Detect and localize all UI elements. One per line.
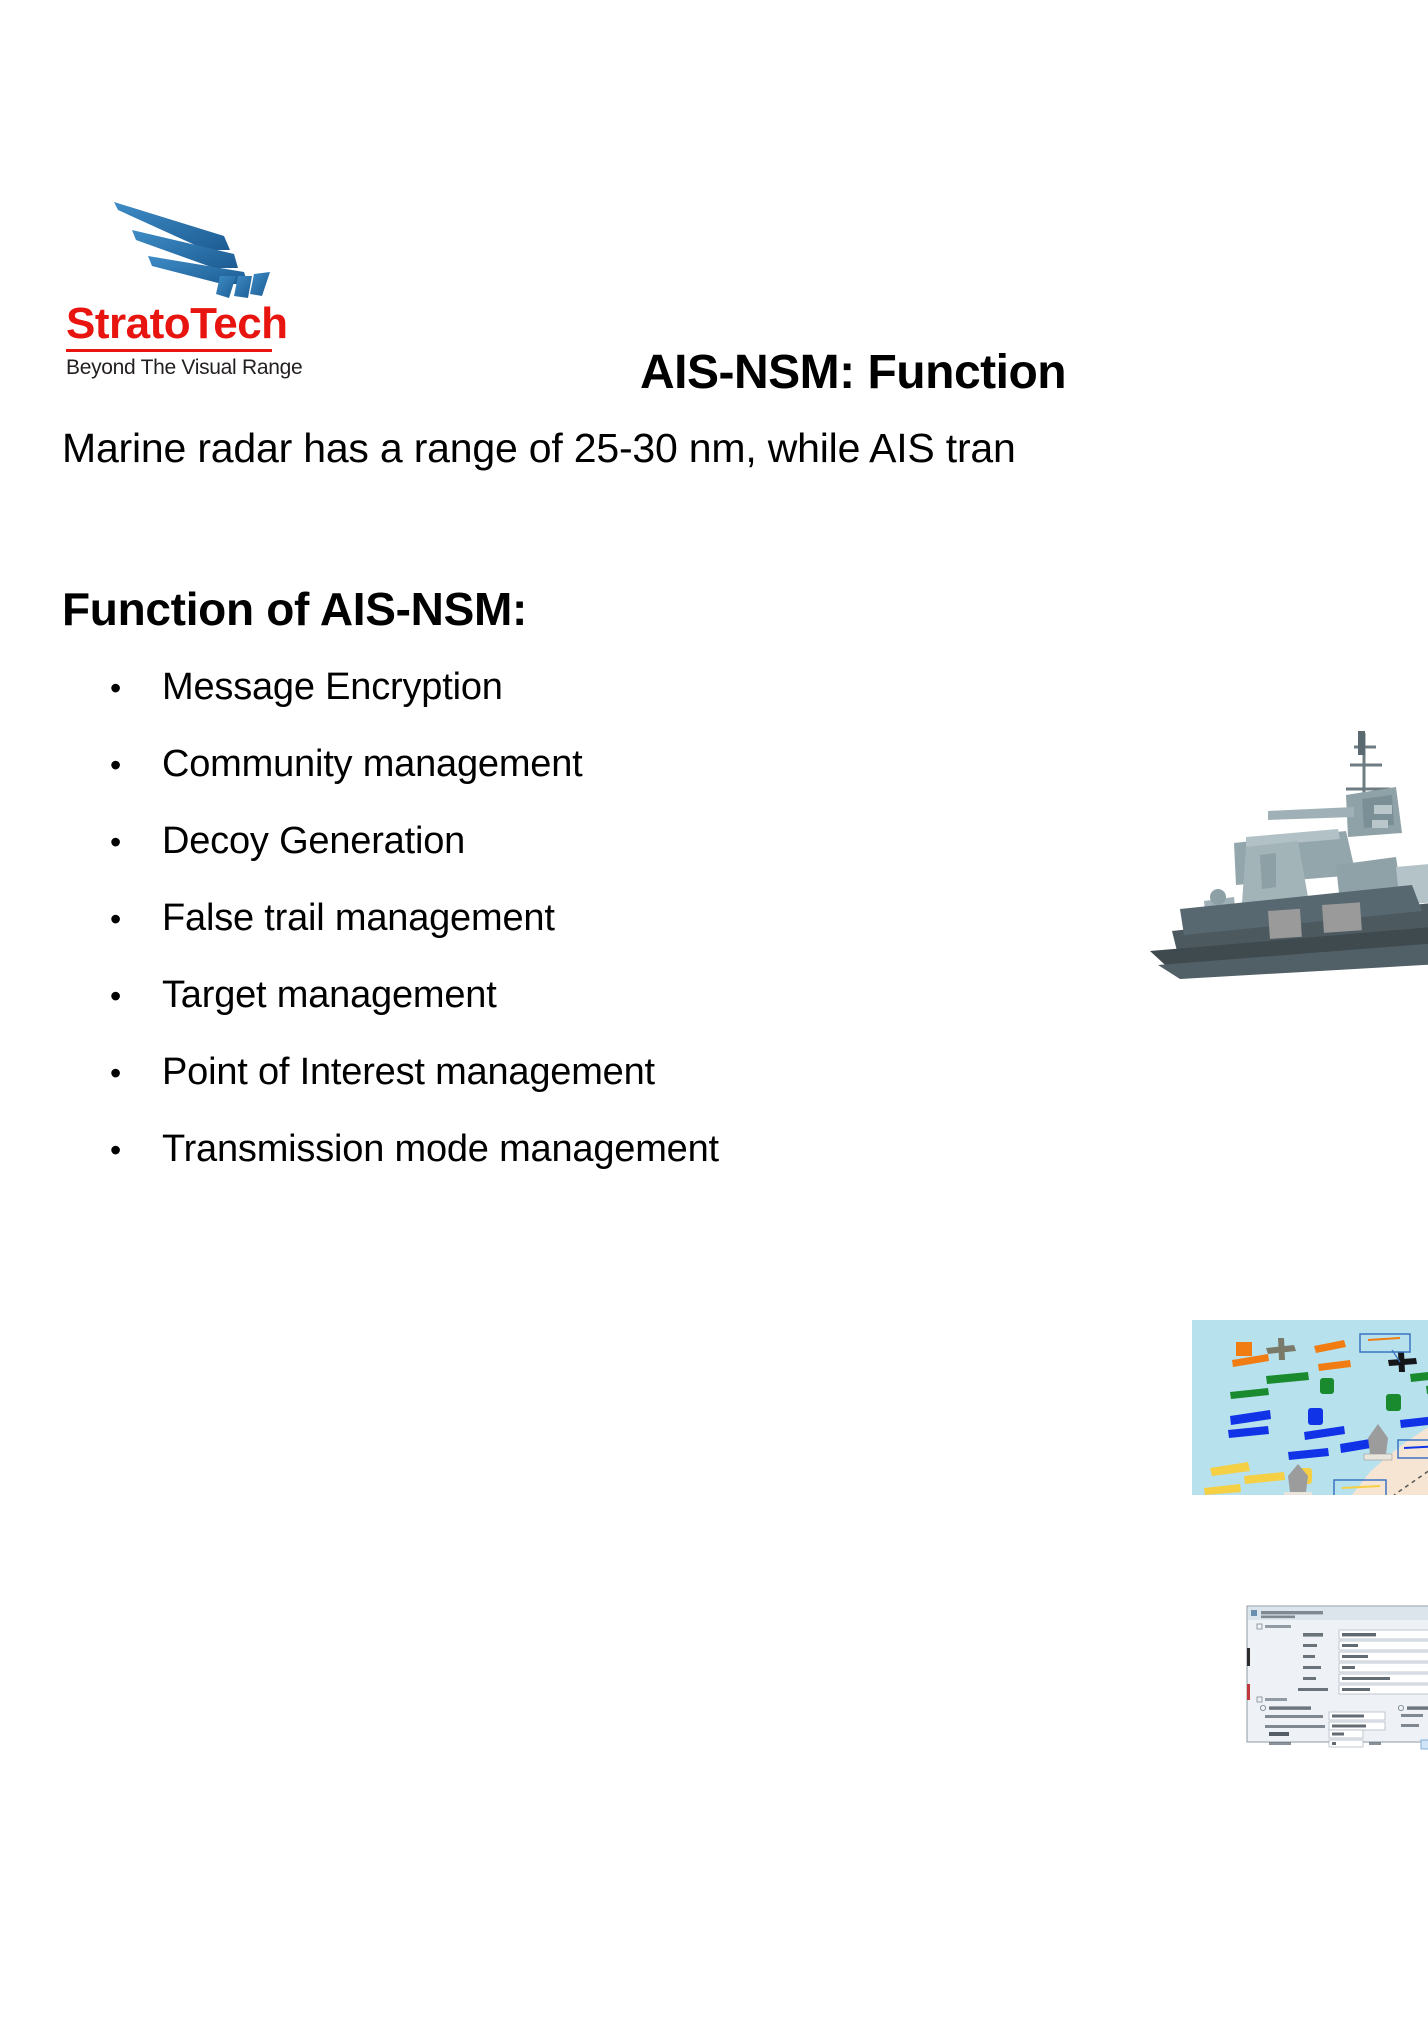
bullet-marker-icon: •	[110, 1057, 162, 1089]
naval-warship-illustration	[1150, 725, 1428, 985]
list-item-label: Message Encryption	[162, 666, 503, 709]
section-heading: Function of AIS-NSM:	[62, 582, 527, 636]
logo-divider	[66, 349, 272, 352]
list-item: • Transmission mode management	[110, 1128, 1110, 1205]
bullet-marker-icon: •	[110, 826, 162, 858]
list-item: • False trail management	[110, 897, 1110, 974]
list-item: • Decoy Generation	[110, 820, 1110, 897]
logo-tagline: Beyond The Visual Range	[66, 356, 292, 380]
logo-wordmark: StratoTech	[66, 302, 292, 346]
list-item: • Message Encryption	[110, 666, 1110, 743]
list-item-label: Decoy Generation	[162, 820, 465, 863]
bullet-marker-icon: •	[110, 672, 162, 704]
settings-dialog-screenshot	[1243, 1600, 1428, 1752]
stratotech-logo: StratoTech Beyond The Visual Range	[62, 188, 292, 380]
list-item: • Target management	[110, 974, 1110, 1051]
subtitle-text: Marine radar has a range of 25-30 nm, wh…	[62, 425, 1016, 472]
wing-icon	[102, 188, 277, 298]
list-item: • Community management	[110, 743, 1110, 820]
bullet-marker-icon: •	[110, 903, 162, 935]
function-bullet-list: • Message Encryption • Community managem…	[110, 666, 1110, 1205]
list-item-label: Community management	[162, 743, 583, 786]
bullet-marker-icon: •	[110, 1134, 162, 1166]
tactical-map-thumbnail	[1192, 1320, 1428, 1495]
bullet-marker-icon: •	[110, 980, 162, 1012]
list-item: • Point of Interest management	[110, 1051, 1110, 1128]
page-title: AIS-NSM: Function	[640, 345, 1066, 400]
bullet-marker-icon: •	[110, 749, 162, 781]
slide-page: StratoTech Beyond The Visual Range AIS-N…	[0, 0, 1428, 2018]
list-item-label: Point of Interest management	[162, 1051, 655, 1094]
list-item-label: False trail management	[162, 897, 555, 940]
list-item-label: Transmission mode management	[162, 1128, 719, 1171]
list-item-label: Target management	[162, 974, 497, 1017]
